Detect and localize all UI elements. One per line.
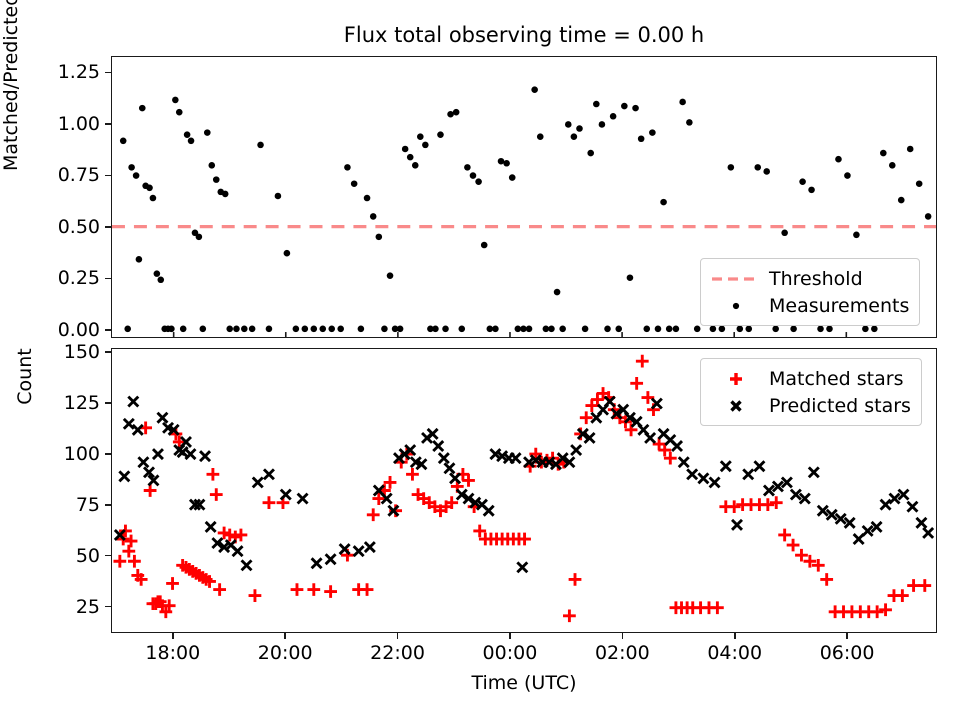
predicted-star-point	[732, 520, 742, 530]
measurement-point	[241, 326, 248, 333]
y-tick-mark	[105, 351, 111, 353]
y-tick-mark	[105, 226, 111, 228]
predicted-star-point	[743, 469, 753, 479]
measurement-point	[826, 326, 833, 333]
measurement-point	[196, 234, 203, 241]
predicted-star-point	[907, 502, 917, 512]
measurement-point	[358, 326, 365, 333]
predicted-star-point	[326, 554, 336, 564]
legend-item-predicted-stars[interactable]: Predicted stars	[709, 392, 911, 419]
matched-star-point	[113, 555, 126, 568]
predicted-star-point	[484, 506, 494, 516]
measurement-point	[213, 176, 220, 183]
predicted-star-point	[672, 441, 682, 451]
measurement-point	[437, 131, 444, 138]
ratio-panel-legend[interactable]: Threshold Measurements	[700, 258, 920, 326]
predicted-star-point	[133, 425, 143, 435]
y-tick-mark	[105, 555, 111, 557]
predicted-star-point	[242, 560, 252, 570]
measurement-point	[381, 326, 388, 333]
measurement-point	[150, 195, 157, 202]
measurement-point	[180, 326, 187, 333]
measurement-point	[226, 326, 233, 333]
x-tick-mark	[846, 633, 848, 639]
measurement-point	[799, 178, 806, 185]
measurement-point	[503, 160, 510, 167]
x-tick-mark	[509, 633, 511, 639]
x-tick-label: 02:00	[595, 642, 650, 664]
matched-star-point	[907, 579, 920, 592]
measurement-point	[871, 326, 878, 333]
measurement-point	[337, 326, 344, 333]
measurement-point	[660, 199, 667, 206]
predicted-star-point	[157, 413, 167, 423]
measurement-point	[464, 164, 471, 171]
x-tick-mark	[397, 633, 399, 639]
predicted-star-point	[354, 546, 364, 556]
cross-marker-icon	[709, 396, 763, 416]
predicted-star-point	[517, 562, 527, 572]
matched-star-point	[770, 496, 783, 509]
predicted-star-point	[698, 473, 708, 483]
predicted-star-point	[645, 433, 655, 443]
measurement-point	[638, 135, 645, 142]
measurement-point	[559, 326, 566, 333]
measurement-point	[710, 326, 717, 333]
predicted-star-point	[200, 451, 210, 461]
matched-star-point	[367, 508, 380, 521]
measurement-point	[402, 146, 409, 153]
measurement-point	[817, 326, 824, 333]
matched-star-point	[210, 488, 223, 501]
measurement-point	[233, 326, 240, 333]
measurement-point	[686, 119, 693, 126]
measurement-point	[604, 326, 611, 333]
measurement-point	[453, 109, 460, 116]
y-tick-label: 100	[30, 443, 100, 465]
legend-label-measurements: Measurements	[763, 295, 909, 317]
measurement-point	[184, 131, 191, 138]
count-panel-legend[interactable]: Matched stars Predicted stars	[700, 358, 922, 426]
dashed-line-icon	[709, 273, 763, 285]
y-tick-mark	[105, 504, 111, 506]
matched-star-point	[778, 529, 791, 542]
predicted-star-point	[206, 522, 216, 532]
measurement-point	[470, 172, 477, 179]
matched-star-point	[728, 500, 741, 513]
matched-star-point	[918, 579, 931, 592]
predicted-star-point	[119, 471, 129, 481]
measurement-point	[537, 133, 544, 140]
legend-item-measurements[interactable]: Measurements	[709, 292, 909, 319]
measurement-point	[124, 326, 131, 333]
count-panel-y-axis-label: Count	[14, 234, 36, 519]
matched-star-point	[207, 468, 220, 481]
y-tick-mark	[105, 72, 111, 74]
y-tick-label: 0.75	[30, 164, 100, 186]
measurement-point	[128, 164, 135, 171]
measurement-point	[571, 133, 578, 140]
measurement-point	[853, 232, 860, 239]
dot-icon	[709, 300, 763, 312]
measurement-point	[387, 272, 394, 279]
predicted-star-point	[138, 457, 148, 467]
matched-star-point	[641, 391, 654, 404]
y-tick-label: 1.25	[30, 61, 100, 83]
predicted-star-point	[185, 449, 195, 459]
predicted-star-point	[721, 461, 731, 471]
legend-item-matched-stars[interactable]: Matched stars	[709, 365, 911, 392]
matched-star-point	[291, 583, 304, 596]
predicted-star-point	[679, 457, 689, 467]
y-tick-mark	[105, 278, 111, 280]
measurement-point	[509, 174, 516, 181]
measurement-point	[907, 146, 914, 153]
measurement-point	[587, 150, 594, 157]
measurement-point	[889, 162, 896, 169]
measurement-point	[492, 326, 499, 333]
measurement-point	[763, 168, 770, 175]
measurement-point	[599, 121, 606, 128]
measurement-point	[554, 289, 561, 296]
matched-star-point	[563, 609, 576, 622]
predicted-star-point	[433, 441, 443, 451]
matched-star-point	[324, 585, 337, 598]
measurement-point	[204, 129, 211, 136]
y-tick-mark	[105, 402, 111, 404]
measurement-point	[176, 109, 183, 116]
measurement-point	[790, 326, 797, 333]
matched-star-point	[820, 573, 833, 586]
measurement-point	[351, 180, 358, 187]
measurement-point	[407, 154, 414, 161]
measurement-point	[679, 99, 686, 106]
measurement-point	[621, 103, 628, 110]
matched-star-point	[787, 539, 800, 552]
measurement-point	[844, 172, 851, 179]
x-tick-label: 22:00	[370, 642, 425, 664]
measurement-point	[172, 97, 179, 104]
measurement-point	[266, 326, 273, 333]
predicted-star-point	[916, 518, 926, 528]
x-tick-mark	[172, 633, 174, 639]
matched-star-point	[711, 601, 724, 614]
measurement-point	[311, 326, 318, 333]
predicted-star-point	[511, 453, 521, 463]
predicted-star-point	[450, 473, 460, 483]
figure-title: Flux total observing time = 0.00 h	[111, 22, 937, 48]
matched-star-point	[879, 603, 892, 616]
measurement-point	[293, 326, 300, 333]
measurement-point	[593, 101, 600, 108]
measurement-point	[120, 138, 127, 145]
measurement-point	[515, 326, 522, 333]
measurement-point	[344, 164, 351, 171]
matched-star-point	[389, 504, 402, 517]
measurement-point	[458, 326, 465, 333]
measurement-point	[632, 105, 639, 112]
matched-star-point	[896, 589, 909, 602]
x-axis-label: Time (UTC)	[111, 672, 937, 694]
measurement-point	[422, 142, 429, 149]
measurement-point	[666, 326, 673, 333]
predicted-star-point	[264, 469, 274, 479]
measurement-point	[582, 326, 589, 333]
predicted-star-point	[439, 453, 449, 463]
x-tick-mark	[284, 633, 286, 639]
matched-star-point	[144, 484, 157, 497]
measurement-point	[737, 326, 744, 333]
measurement-point	[208, 162, 215, 169]
x-tick-label: 04:00	[707, 642, 762, 664]
matched-star-point	[795, 549, 808, 562]
measurement-point	[772, 326, 779, 333]
measurement-point	[481, 242, 488, 249]
x-tick-label: 00:00	[483, 642, 538, 664]
ratio-panel-y-axis-label: Matched/Predicted stars	[0, 0, 22, 197]
measurement-point	[257, 142, 264, 149]
measurement-point	[376, 234, 383, 241]
y-tick-label: 75	[30, 494, 100, 516]
measurement-point	[520, 326, 527, 333]
measurement-point	[275, 193, 282, 200]
matched-star-point	[213, 583, 226, 596]
y-tick-label: 150	[30, 341, 100, 363]
matched-star-point	[307, 583, 320, 596]
measurement-point	[673, 326, 680, 333]
measurement-point	[719, 326, 726, 333]
measurement-point	[319, 326, 326, 333]
predicted-star-point	[128, 397, 138, 407]
y-tick-label: 125	[30, 392, 100, 414]
x-tick-label: 20:00	[258, 642, 313, 664]
predicted-star-point	[809, 467, 819, 477]
measurement-point	[728, 164, 735, 171]
predicted-star-point	[298, 494, 308, 504]
measurement-point	[576, 125, 583, 132]
measurement-point	[745, 326, 752, 333]
measurement-point	[898, 197, 905, 204]
matched-star-point	[361, 583, 374, 596]
matched-star-point	[166, 577, 179, 590]
measurement-point	[531, 86, 538, 93]
measurement-point	[694, 326, 701, 333]
y-tick-label: 25	[30, 596, 100, 618]
x-tick-label: 18:00	[145, 642, 200, 664]
predicted-star-point	[233, 546, 243, 556]
measurement-point	[835, 156, 842, 163]
measurement-point	[284, 250, 291, 257]
measurement-point	[397, 326, 404, 333]
y-tick-label: 0.50	[30, 216, 100, 238]
y-tick-mark	[105, 123, 111, 125]
y-tick-mark	[105, 329, 111, 331]
matched-star-point	[636, 355, 649, 368]
measurement-point	[200, 326, 207, 333]
matched-star-point	[249, 589, 262, 602]
measurement-point	[862, 326, 869, 333]
measurement-point	[328, 326, 335, 333]
measurement-point	[754, 164, 761, 171]
measurement-point	[475, 178, 482, 185]
predicted-star-point	[571, 445, 581, 455]
measurement-point	[447, 111, 454, 118]
measurement-point	[925, 213, 932, 220]
measurement-point	[526, 326, 533, 333]
measurement-point	[781, 229, 788, 236]
y-tick-mark	[105, 606, 111, 608]
measurement-point	[139, 105, 146, 112]
measurement-point	[543, 326, 550, 333]
measurement-point	[627, 274, 634, 281]
matched-star-point	[263, 496, 276, 509]
matched-star-point	[569, 573, 582, 586]
measurement-point	[168, 326, 175, 333]
measurement-point	[643, 326, 650, 333]
predicted-star-point	[881, 500, 891, 510]
measurement-point	[222, 191, 229, 198]
measurement-point	[133, 172, 140, 179]
measurement-point	[146, 185, 153, 192]
x-tick-mark	[622, 633, 624, 639]
y-tick-label: 0.25	[30, 267, 100, 289]
measurement-point	[808, 187, 815, 194]
measurement-point	[442, 326, 449, 333]
predicted-star-point	[444, 463, 454, 473]
x-tick-label: 06:00	[820, 642, 875, 664]
predicted-star-point	[312, 558, 322, 568]
predicted-star-point	[253, 477, 263, 487]
legend-item-threshold[interactable]: Threshold	[709, 265, 909, 292]
predicted-star-point	[923, 528, 933, 538]
x-tick-mark	[734, 633, 736, 639]
predicted-star-point	[281, 490, 291, 500]
y-tick-label: 0.00	[30, 319, 100, 341]
matched-star-point	[630, 377, 643, 390]
measurement-point	[188, 138, 195, 145]
matched-star-point	[406, 468, 419, 481]
measurement-point	[880, 150, 887, 157]
matplotlib-figure: Flux total observing time = 0.00 h 0.000…	[0, 0, 960, 720]
measurement-point	[487, 326, 494, 333]
y-tick-label: 1.00	[30, 113, 100, 135]
matched-star-point	[761, 498, 774, 511]
measurement-point	[302, 326, 309, 333]
legend-label-predicted-stars: Predicted stars	[763, 395, 911, 417]
measurement-point	[412, 162, 419, 169]
measurement-point	[370, 213, 377, 220]
measurement-point	[565, 121, 572, 128]
predicted-star-point	[710, 477, 720, 487]
measurement-point	[615, 326, 622, 333]
y-tick-label: 50	[30, 545, 100, 567]
matched-star-point	[580, 411, 593, 424]
measurement-point	[157, 276, 164, 283]
y-tick-mark	[105, 175, 111, 177]
predicted-star-point	[365, 542, 375, 552]
predicted-star-point	[124, 419, 134, 429]
measurement-point	[498, 158, 505, 165]
measurement-point	[548, 326, 555, 333]
predicted-star-point	[153, 449, 163, 459]
legend-label-threshold: Threshold	[763, 268, 863, 290]
measurement-point	[649, 129, 656, 136]
measurement-point	[417, 133, 424, 140]
measurement-point	[916, 180, 923, 187]
y-tick-mark	[105, 453, 111, 455]
measurement-point	[136, 256, 143, 263]
measurement-point	[154, 270, 161, 277]
measurement-point	[364, 195, 371, 202]
legend-label-matched-stars: Matched stars	[763, 368, 903, 390]
predicted-star-point	[754, 461, 764, 471]
plus-marker-icon	[709, 369, 763, 389]
matched-star-point	[871, 605, 884, 618]
predicted-star-point	[687, 469, 697, 479]
measurement-point	[432, 326, 439, 333]
measurement-point	[610, 113, 617, 120]
measurement-point	[249, 326, 256, 333]
measurement-point	[655, 326, 662, 333]
predicted-star-point	[854, 534, 864, 544]
